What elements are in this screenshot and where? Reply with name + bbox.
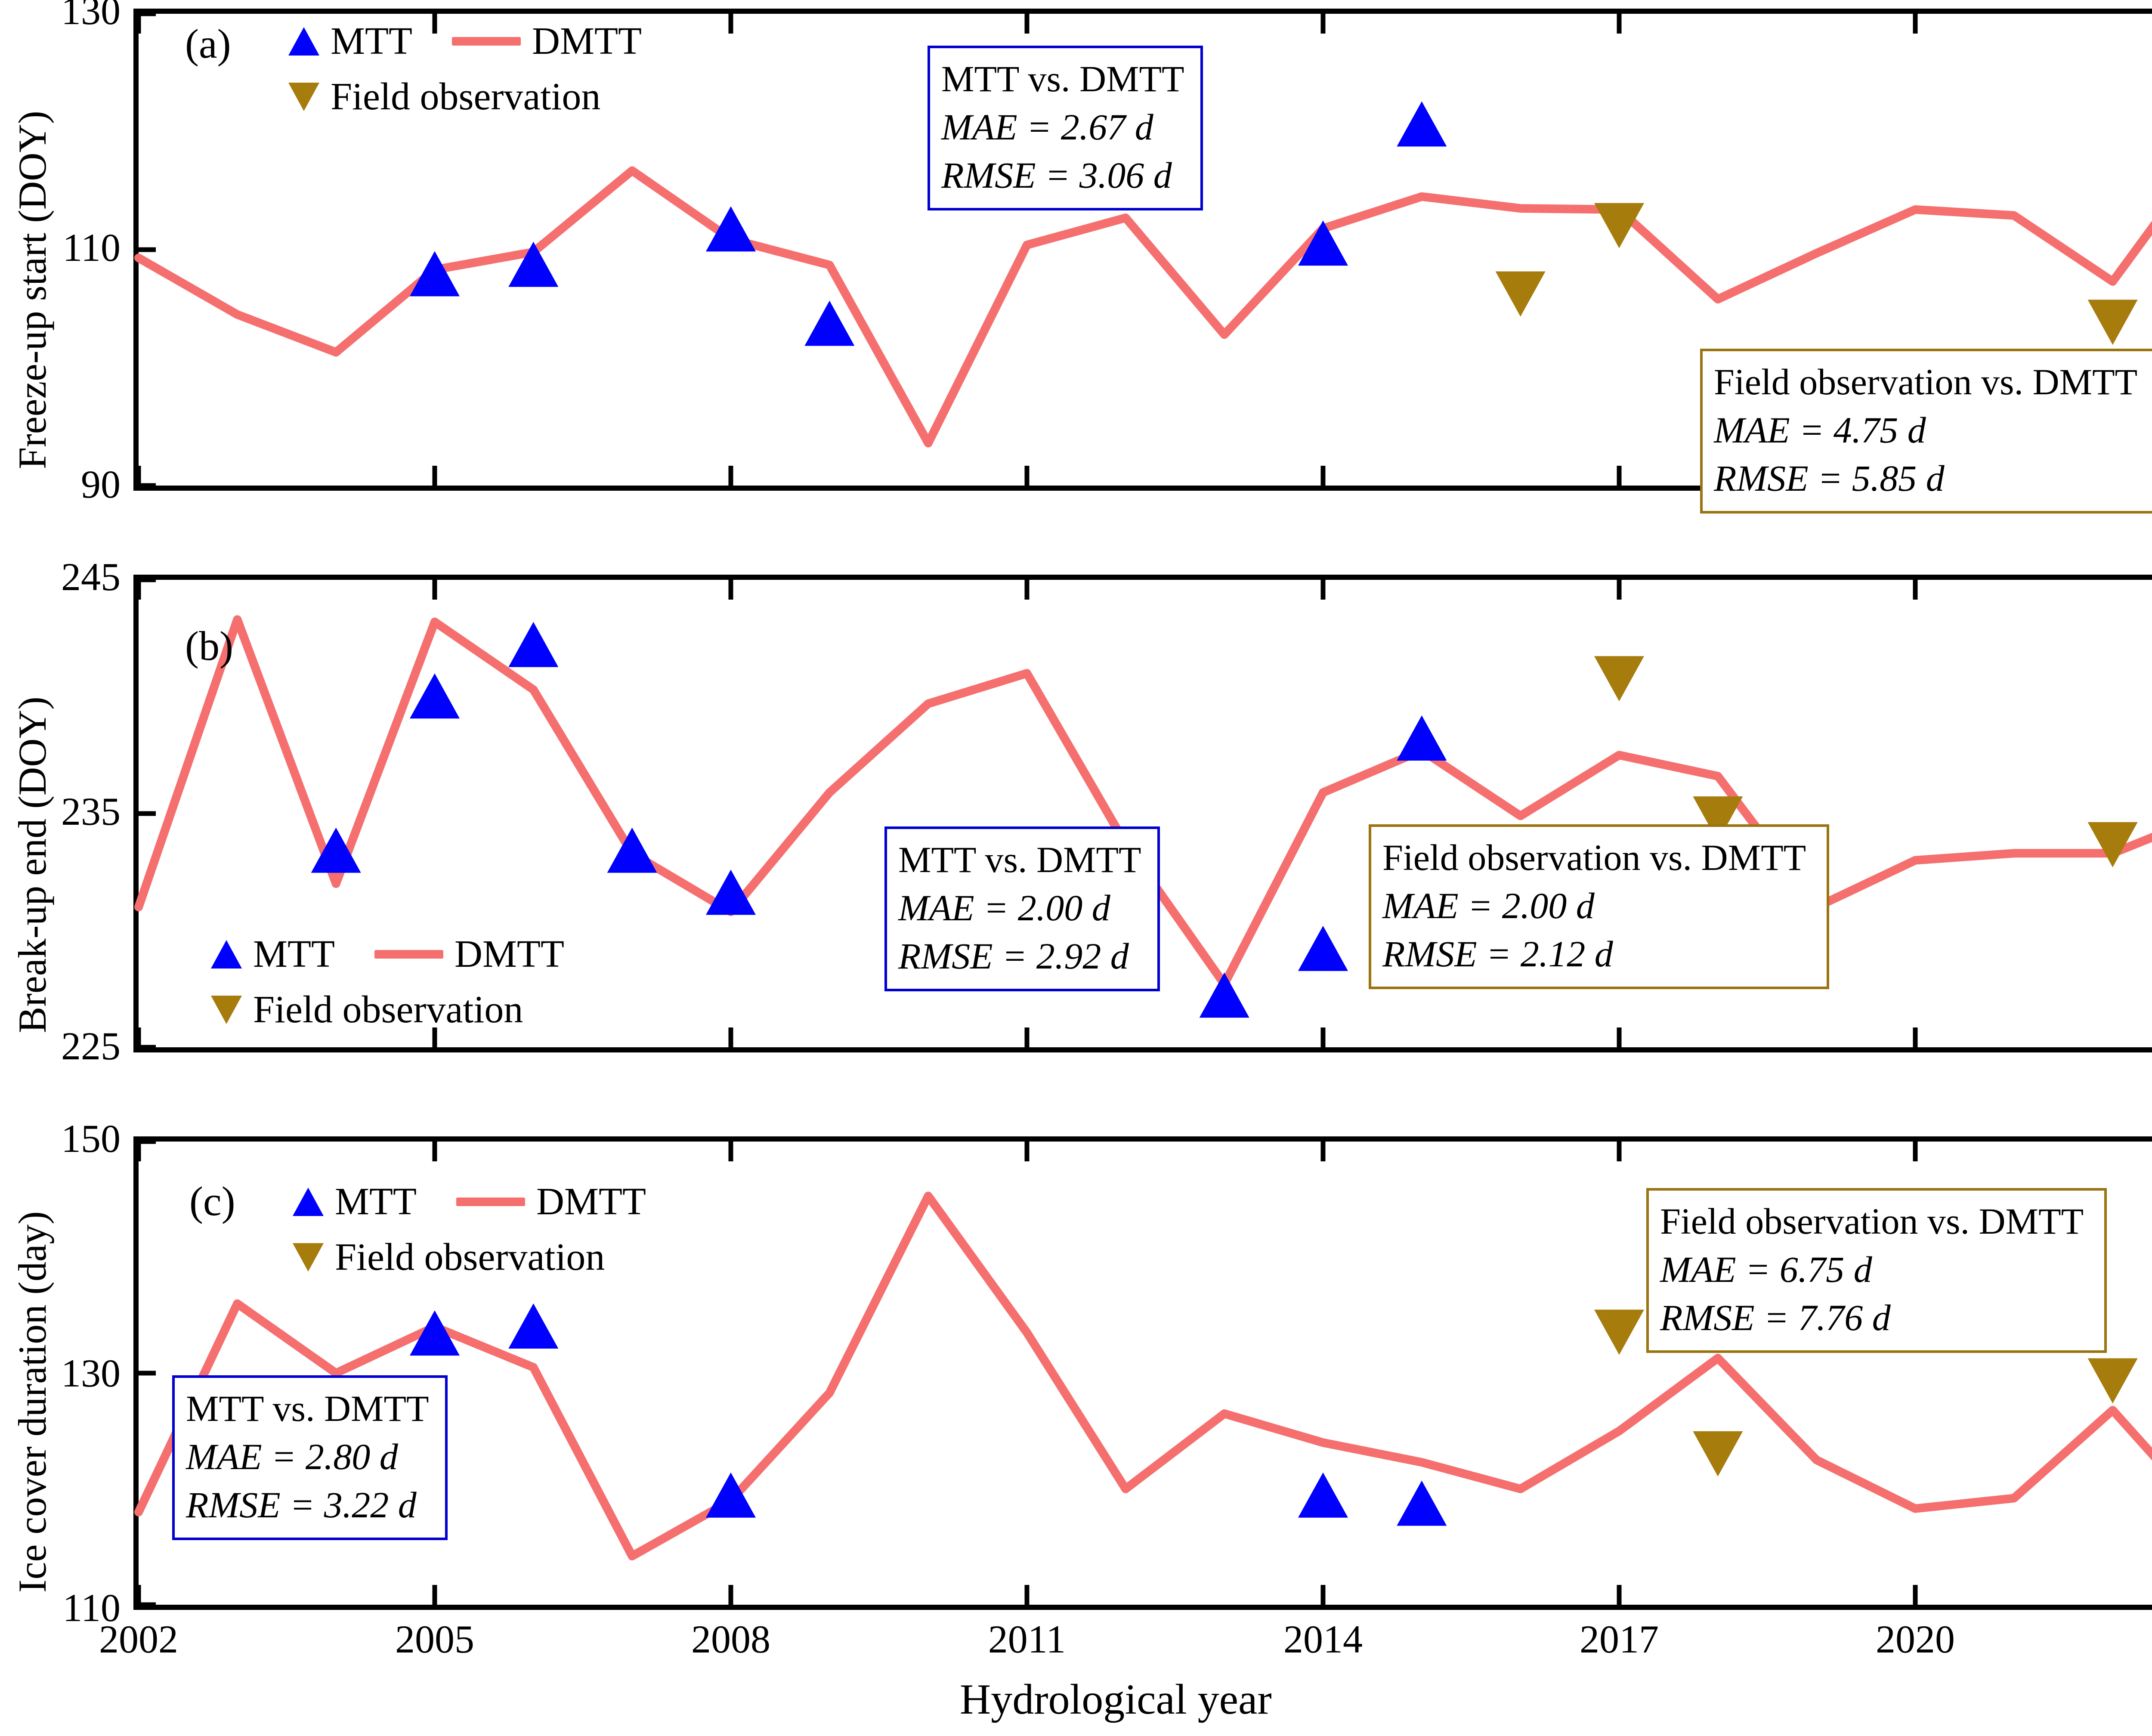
mtt-marker — [607, 828, 657, 873]
stat-title: MTT vs. DMTT — [941, 55, 1189, 103]
line-swatch-icon — [456, 1198, 525, 1206]
stat-rmse: RMSE = 3.06 d — [941, 152, 1189, 200]
stat-mae: MAE = 6.75 d — [1660, 1246, 2093, 1294]
field-observation-marker — [1693, 1431, 1743, 1476]
x-tick-label: 2023 — [2147, 1616, 2152, 1662]
panel-a-ytick-max: 130 — [0, 0, 121, 34]
field-observation-marker — [2088, 300, 2138, 345]
stat-mae: MAE = 2.00 d — [898, 884, 1146, 932]
panel-b-ytick-min: 225 — [0, 1023, 121, 1069]
x-tick-label: 2008 — [666, 1616, 795, 1662]
mtt-marker — [410, 251, 460, 296]
panel-b: (b) MTT DMTT Field observation MTT vs. D… — [133, 575, 2152, 1052]
x-tick-label: 2005 — [370, 1616, 499, 1662]
mtt-marker — [1397, 715, 1447, 761]
field-observation-marker — [1594, 656, 1644, 701]
legend-label-mtt: MTT — [331, 19, 412, 63]
legend-label-dmtt: DMTT — [532, 19, 642, 63]
triangle-down-icon — [211, 996, 242, 1024]
field-observation-marker — [1496, 272, 1546, 317]
panel-a-y-title: Freeze-up start (DOY) — [9, 111, 55, 469]
panel-b-stat-box-mtt: MTT vs. DMTT MAE = 2.00 d RMSE = 2.92 d — [884, 826, 1160, 991]
line-swatch-icon — [452, 37, 521, 46]
legend-label-mtt: MTT — [253, 932, 335, 976]
legend-label-mtt: MTT — [335, 1179, 417, 1224]
mtt-marker — [508, 1303, 558, 1349]
panel-a-ytick-mid: 110 — [0, 225, 121, 270]
mtt-marker — [804, 300, 854, 346]
panel-b-legend: MTT DMTT Field observation — [211, 932, 564, 1032]
panel-a: (a) MTT DMTT Field observation MTT vs. D… — [133, 9, 2152, 491]
panel-a-letter: (a) — [185, 20, 231, 68]
legend-label-dmtt: DMTT — [536, 1179, 646, 1224]
legend-label-dmtt: DMTT — [455, 932, 564, 976]
panel-c-y-title: Ice cover duration (day) — [9, 1211, 55, 1593]
triangle-up-icon — [293, 1188, 324, 1216]
stat-title: MTT vs. DMTT — [186, 1385, 434, 1433]
mtt-marker — [1298, 1473, 1348, 1518]
x-axis-title: Hydrological year — [960, 1674, 1272, 1724]
mtt-marker — [508, 622, 558, 667]
x-tick-label: 2002 — [74, 1616, 203, 1662]
panel-c-ytick-mid: 130 — [0, 1350, 121, 1396]
legend-row-field: Field observation — [288, 74, 642, 119]
x-tick-label: 2014 — [1258, 1616, 1388, 1662]
panel-c: (c) MTT DMTT Field observation MTT vs. D… — [133, 1136, 2152, 1610]
legend-row-field: Field observation — [293, 1235, 646, 1279]
stat-title: Field observation vs. DMTT — [1660, 1198, 2093, 1246]
stat-rmse: RMSE = 2.12 d — [1382, 930, 1815, 978]
field-observation-marker — [2088, 1358, 2138, 1403]
stat-rmse: RMSE = 5.85 d — [1714, 455, 2147, 503]
stat-mae: MAE = 2.00 d — [1382, 882, 1815, 930]
stat-title: Field observation vs. DMTT — [1714, 358, 2147, 406]
stat-rmse: RMSE = 7.76 d — [1660, 1294, 2093, 1342]
triangle-up-icon — [288, 27, 319, 56]
stat-rmse: RMSE = 2.92 d — [898, 932, 1146, 981]
legend-row-mtt-dmtt: MTT DMTT — [288, 19, 642, 63]
legend-label-field: Field observation — [331, 74, 600, 119]
stat-mae: MAE = 2.80 d — [186, 1433, 434, 1481]
mtt-marker — [1397, 101, 1447, 146]
panel-a-ytick-min: 90 — [0, 461, 121, 507]
panel-c-stat-box-field: Field observation vs. DMTT MAE = 6.75 d … — [1646, 1188, 2107, 1353]
stat-title: Field observation vs. DMTT — [1382, 834, 1815, 882]
line-swatch-icon — [374, 950, 443, 959]
panel-b-letter: (b) — [185, 622, 233, 670]
legend-label-field: Field observation — [335, 1235, 605, 1279]
legend-label-field: Field observation — [253, 987, 523, 1032]
panel-c-letter: (c) — [189, 1177, 235, 1225]
stat-mae: MAE = 4.75 d — [1714, 406, 2147, 455]
panel-b-y-title: Break-up end (DOY) — [9, 696, 55, 1033]
x-tick-label: 2020 — [1851, 1616, 1980, 1662]
mtt-marker — [1397, 1481, 1447, 1526]
panel-c-stat-box-mtt: MTT vs. DMTT MAE = 2.80 d RMSE = 3.22 d — [172, 1375, 448, 1540]
panel-c-legend: MTT DMTT Field observation — [293, 1179, 646, 1279]
x-tick-label: 2011 — [962, 1616, 1091, 1662]
triangle-up-icon — [211, 940, 242, 969]
field-observation-marker — [1594, 1310, 1644, 1355]
mtt-marker — [1200, 972, 1249, 1018]
mtt-marker — [1298, 926, 1348, 971]
panel-b-ytick-max: 245 — [0, 554, 121, 600]
panel-c-ytick-max: 150 — [0, 1116, 121, 1161]
triangle-down-icon — [293, 1243, 324, 1272]
panel-b-ytick-mid: 235 — [0, 789, 121, 834]
stat-rmse: RMSE = 3.22 d — [186, 1481, 434, 1529]
stat-title: MTT vs. DMTT — [898, 836, 1146, 884]
panel-b-stat-box-field: Field observation vs. DMTT MAE = 2.00 d … — [1369, 824, 1829, 989]
panel-a-stat-box-mtt: MTT vs. DMTT MAE = 2.67 d RMSE = 3.06 d — [928, 46, 1203, 210]
panel-a-legend: MTT DMTT Field observation — [288, 19, 642, 119]
legend-row-field: Field observation — [211, 987, 564, 1032]
x-tick-label: 2017 — [1555, 1616, 1684, 1662]
legend-row-mtt-dmtt: MTT DMTT — [293, 1179, 646, 1224]
triangle-down-icon — [288, 83, 319, 111]
panel-a-stat-box-field: Field observation vs. DMTT MAE = 4.75 d … — [1700, 349, 2152, 514]
figure-root: (a) MTT DMTT Field observation MTT vs. D… — [0, 0, 2152, 1736]
mtt-marker — [508, 241, 558, 287]
legend-row-mtt-dmtt: MTT DMTT — [211, 932, 564, 976]
stat-mae: MAE = 2.67 d — [941, 103, 1189, 152]
